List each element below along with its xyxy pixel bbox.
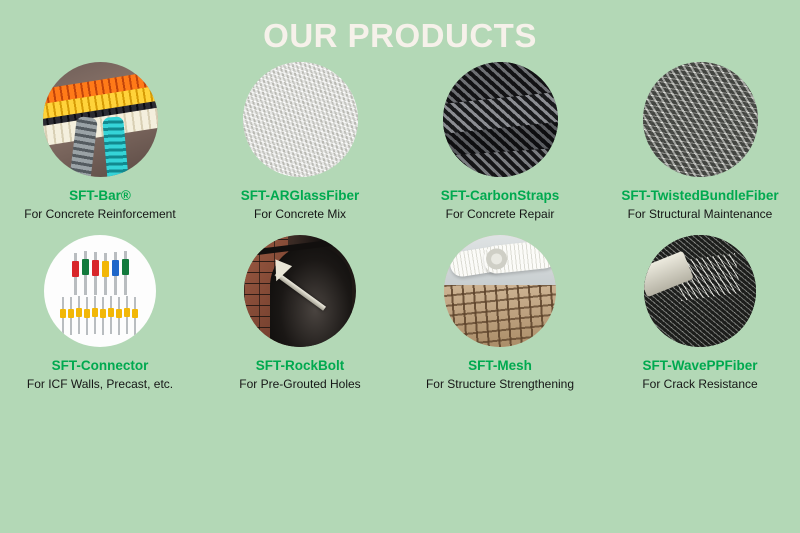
product-row-1: SFT-Bar® For Concrete Reinforcement SFT-… — [0, 62, 800, 232]
sft-twistedbundlefiber-image[interactable] — [643, 62, 758, 177]
product-card-sft-rockbolt[interactable]: SFT-RockBolt For Pre-Grouted Holes — [200, 235, 400, 415]
product-description: For ICF Walls, Precast, etc. — [27, 377, 173, 391]
sft-carbonstraps-image[interactable] — [443, 62, 558, 177]
product-description: For Crack Resistance — [642, 377, 757, 391]
product-name: SFT-Connector — [52, 359, 149, 374]
product-row-2: SFT-Connector For ICF Walls, Precast, et… — [0, 235, 800, 415]
product-description: For Structure Strengthening — [426, 377, 574, 391]
product-grid: SFT-Bar® For Concrete Reinforcement SFT-… — [0, 62, 800, 415]
product-card-sft-mesh[interactable]: SFT-Mesh For Structure Strengthening — [400, 235, 600, 415]
product-description: For Structural Maintenance — [628, 207, 773, 221]
product-name: SFT-Mesh — [468, 359, 532, 374]
product-description: For Concrete Mix — [254, 207, 346, 221]
product-name: SFT-ARGlassFiber — [241, 189, 360, 204]
product-card-sft-twistedbundlefiber[interactable]: SFT-TwistedBundleFiber For Structural Ma… — [600, 62, 800, 232]
product-card-sft-connector[interactable]: SFT-Connector For ICF Walls, Precast, et… — [0, 235, 200, 415]
product-card-sft-waveppfiber[interactable]: SFT-WavePPFiber For Crack Resistance — [600, 235, 800, 415]
product-description: For Pre-Grouted Holes — [239, 377, 360, 391]
product-card-sft-carbonstraps[interactable]: SFT-CarbonStraps For Concrete Repair — [400, 62, 600, 232]
sft-waveppfiber-image[interactable] — [644, 235, 756, 347]
product-card-sft-bar[interactable]: SFT-Bar® For Concrete Reinforcement — [0, 62, 200, 232]
product-card-sft-arglassfiber[interactable]: SFT-ARGlassFiber For Concrete Mix — [200, 62, 400, 232]
sft-mesh-image[interactable] — [444, 235, 556, 347]
page-title: OUR PRODUCTS — [0, 17, 800, 55]
product-description: For Concrete Repair — [446, 207, 555, 221]
sft-rockbolt-image[interactable] — [244, 235, 356, 347]
product-name: SFT-CarbonStraps — [441, 189, 560, 204]
product-name: SFT-Bar® — [69, 189, 131, 204]
sft-arglassfiber-image[interactable] — [243, 62, 358, 177]
product-name: SFT-TwistedBundleFiber — [621, 189, 778, 204]
sft-connector-image[interactable] — [44, 235, 156, 347]
product-name: SFT-WavePPFiber — [642, 359, 757, 374]
product-description: For Concrete Reinforcement — [24, 207, 175, 221]
products-section: OUR PRODUCTS SFT-Bar® For Concrete Reinf… — [0, 0, 800, 533]
sft-bar-image[interactable] — [43, 62, 158, 177]
product-name: SFT-RockBolt — [256, 359, 345, 374]
